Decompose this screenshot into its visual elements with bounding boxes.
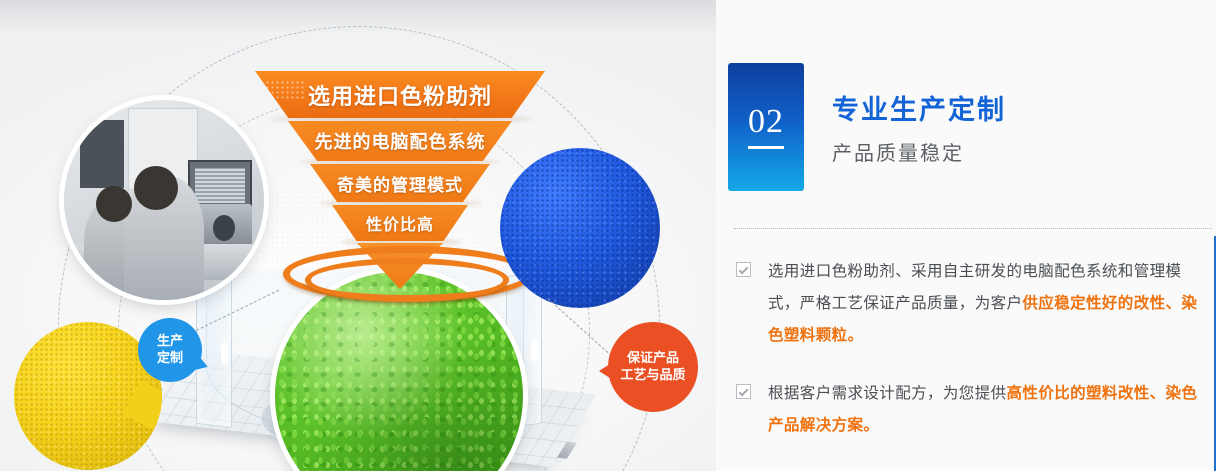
lab-workers-photo [64,100,264,300]
funnel-level-2-label: 先进的电脑配色系统 [315,128,486,154]
funnel-ring-inner [305,258,509,302]
bullet-2-part-normal: 根据客户需求设计配方，为您提供 [768,385,1007,402]
badge-orange-line-1: 保证产品 [627,350,679,367]
checkbox-checked-icon [736,384,751,399]
section-number-badge: 02 [728,63,804,191]
product-illustration-panel: 选用进口色粉助剂 先进的电脑配色系统 奇美的管理模式 性价比高 [0,0,716,471]
blue-powder-grain [500,148,660,308]
checkbox-checked-icon [736,262,751,277]
badge-blue-line-2: 定制 [157,350,183,367]
dotted-divider [734,228,1212,229]
badge-orange-line-2: 工艺与品质 [620,367,685,384]
photo-worker-left-head [96,186,132,222]
photo-worker-right-head [134,166,178,210]
funnel-level-4-label: 性价比高 [366,211,434,235]
funnel-level-4: 性价比高 [332,205,468,241]
feature-bullet-2: 根据客户需求设计配方，为您提供高性价比的塑料改性、染色产品解决方案。 [736,378,1208,442]
feature-bullet-2-text: 根据客户需求设计配方，为您提供高性价比的塑料改性、染色产品解决方案。 [768,378,1208,442]
blue-powder-circle [500,148,660,308]
badge-quality-assurance: 保证产品 工艺与品质 [608,322,698,412]
funnel-level-3-label: 奇美的管理模式 [337,171,463,196]
page-title: 专业生产定制 [832,96,1006,126]
funnel-level-1-label: 选用进口色粉助剂 [308,79,492,111]
promo-banner: 选用进口色粉助剂 先进的电脑配色系统 奇美的管理模式 性价比高 [0,0,1216,471]
feature-bullet-1-text: 选用进口色粉助剂、采用自主研发的电脑配色系统和管理模式，严格工艺保证产品质量，为… [768,256,1208,352]
section-number: 02 [748,105,784,149]
page-subtitle: 产品质量稳定 [832,137,1006,166]
funnel-level-2: 先进的电脑配色系统 [288,121,512,161]
funnel-level-3: 奇美的管理模式 [310,164,490,202]
badge-production-customization: 生产 定制 [138,318,202,382]
funnel-dot-texture [265,80,305,100]
content-panel: 02 专业生产定制 产品质量稳定 选用进口色粉助剂、采用自主研发的电脑配色系统和… [716,0,1216,471]
section-headings: 专业生产定制 产品质量稳定 [832,96,1006,166]
badge-orange-pointer [599,362,613,380]
badge-blue-line-1: 生产 [157,333,183,350]
funnel-level-1: 选用进口色粉助剂 [255,71,545,118]
photo-equipment-panel [80,120,124,188]
feature-bullet-1: 选用进口色粉助剂、采用自主研发的电脑配色系统和管理模式，严格工艺保证产品质量，为… [736,256,1208,352]
